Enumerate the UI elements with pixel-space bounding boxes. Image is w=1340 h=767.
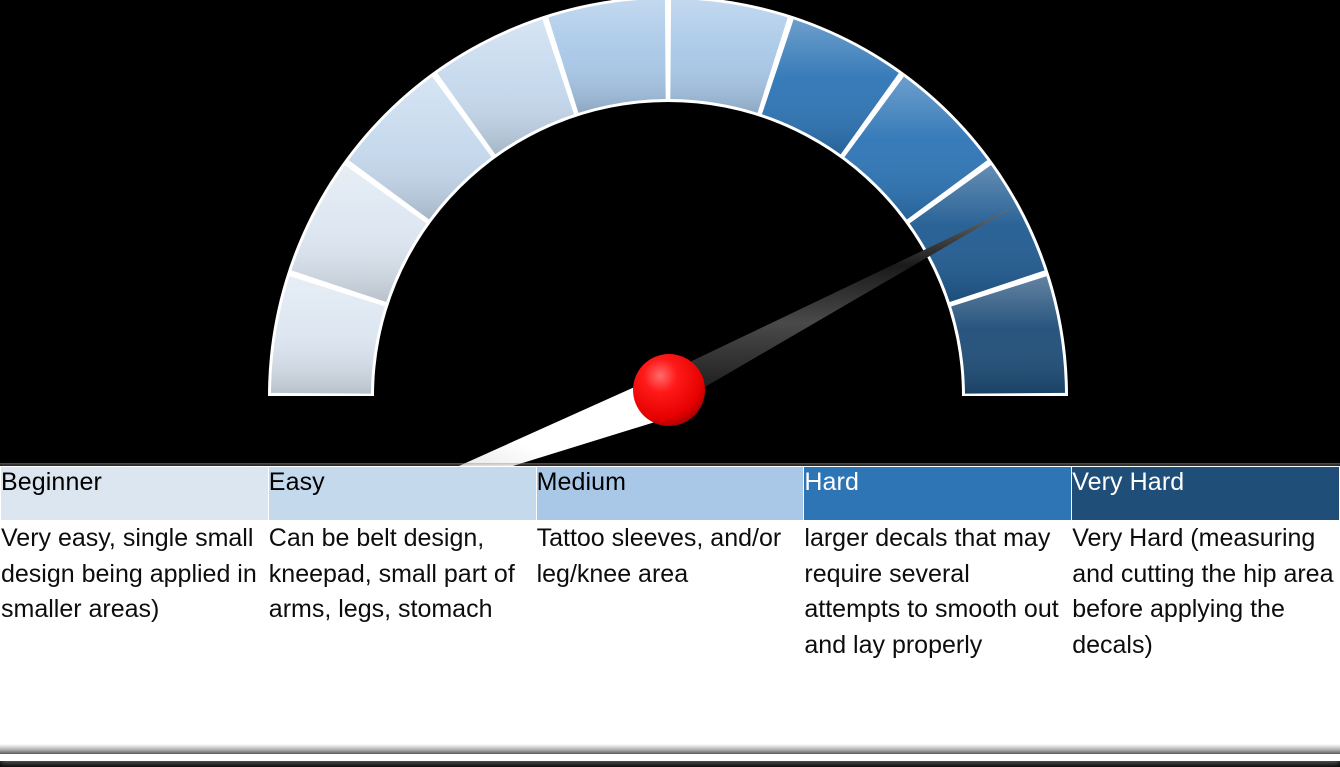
body-text-beginner: Very easy, single small design being app… bbox=[1, 521, 268, 628]
body-cell-very-hard: Very Hard (measuring and cutting the hip… bbox=[1072, 521, 1340, 759]
difficulty-gauge bbox=[0, 0, 1340, 470]
difficulty-legend-table: Beginner Easy Medium Hard Very Hard Very… bbox=[0, 466, 1340, 761]
body-text-very-hard: Very Hard (measuring and cutting the hip… bbox=[1072, 521, 1339, 663]
legend-table-element: Beginner Easy Medium Hard Very Hard Very… bbox=[0, 466, 1340, 759]
table-body-row: Very easy, single small design being app… bbox=[1, 521, 1340, 759]
gauge-hub bbox=[633, 354, 705, 426]
header-cell-easy: Easy bbox=[268, 467, 536, 521]
body-text-easy: Can be belt design, kneepad, small part … bbox=[269, 521, 536, 628]
header-cell-medium: Medium bbox=[536, 467, 804, 521]
body-text-hard: larger decals that may require several a… bbox=[804, 521, 1071, 663]
body-cell-easy: Can be belt design, kneepad, small part … bbox=[268, 521, 536, 759]
gauge-svg bbox=[0, 0, 1340, 470]
header-cell-beginner: Beginner bbox=[1, 467, 269, 521]
body-cell-hard: larger decals that may require several a… bbox=[804, 521, 1072, 759]
slide-canvas: Beginner Easy Medium Hard Very Hard Very… bbox=[0, 0, 1340, 767]
table-body-row-group: Very easy, single small design being app… bbox=[1, 521, 1340, 759]
header-cell-very-hard: Very Hard bbox=[1072, 467, 1340, 521]
body-cell-beginner: Very easy, single small design being app… bbox=[1, 521, 269, 759]
table-header-row: Beginner Easy Medium Hard Very Hard bbox=[1, 467, 1340, 521]
body-cell-medium: Tattoo sleeves, and/or leg/knee area bbox=[536, 521, 804, 759]
gauge-segment-group bbox=[268, 0, 1068, 396]
header-cell-hard: Hard bbox=[804, 467, 1072, 521]
table-header-row-group: Beginner Easy Medium Hard Very Hard bbox=[1, 467, 1340, 521]
body-text-medium: Tattoo sleeves, and/or leg/knee area bbox=[537, 521, 804, 592]
table-bottom-shadow bbox=[0, 744, 1340, 754]
